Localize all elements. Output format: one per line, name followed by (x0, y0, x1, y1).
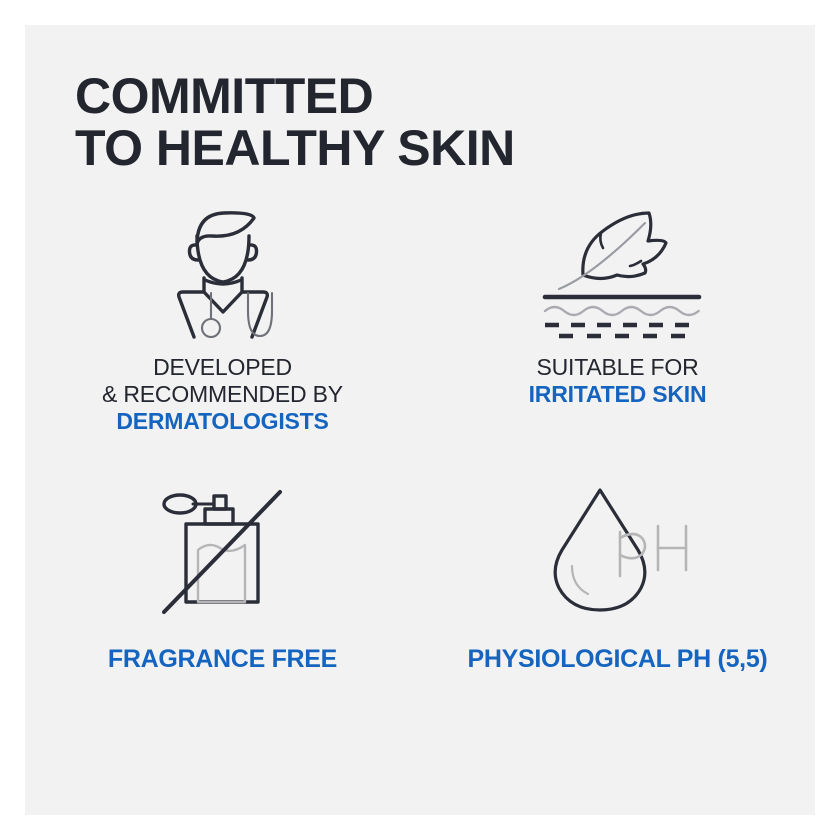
caption-line-1: DEVELOPED (25, 354, 420, 381)
caption-line-1: SUITABLE FOR (420, 354, 815, 381)
feature-caption-fragrance-free: FRAGRANCE FREE (25, 645, 420, 673)
feature-fragrance-free: FRAGRANCE FREE (25, 475, 420, 673)
feature-grid: DEVELOPED & RECOMMENDED BY DERMATOLOGIST… (25, 200, 815, 800)
caption-accent: DERMATOLOGISTS (25, 408, 420, 435)
content-panel: COMMITTED TO HEALTHY SKIN (25, 25, 815, 815)
page-title: COMMITTED TO HEALTHY SKIN (75, 70, 775, 174)
feature-caption-dermatologists: DEVELOPED & RECOMMENDED BY DERMATOLOGIST… (25, 354, 420, 435)
feature-caption-physiological-ph: PHYSIOLOGICAL PH (5,5) (420, 645, 815, 673)
perfume-bottle-crossed-out-icon (25, 475, 420, 625)
feather-skin-layers-icon (420, 200, 815, 340)
water-drop-ph-icon (420, 475, 815, 625)
headline-line-2: TO HEALTHY SKIN (75, 122, 775, 174)
feature-physiological-ph: PHYSIOLOGICAL PH (5,5) (420, 475, 815, 673)
feature-dermatologists: DEVELOPED & RECOMMENDED BY DERMATOLOGIST… (25, 200, 420, 435)
feature-irritated-skin: SUITABLE FOR IRRITATED SKIN (420, 200, 815, 408)
caption-accent: IRRITATED SKIN (420, 381, 815, 408)
headline-line-1: COMMITTED (75, 70, 775, 122)
doctor-stethoscope-icon (25, 200, 420, 340)
feature-caption-irritated-skin: SUITABLE FOR IRRITATED SKIN (420, 354, 815, 408)
poster-canvas: COMMITTED TO HEALTHY SKIN (0, 0, 840, 840)
caption-line-2: & RECOMMENDED BY (25, 381, 420, 408)
